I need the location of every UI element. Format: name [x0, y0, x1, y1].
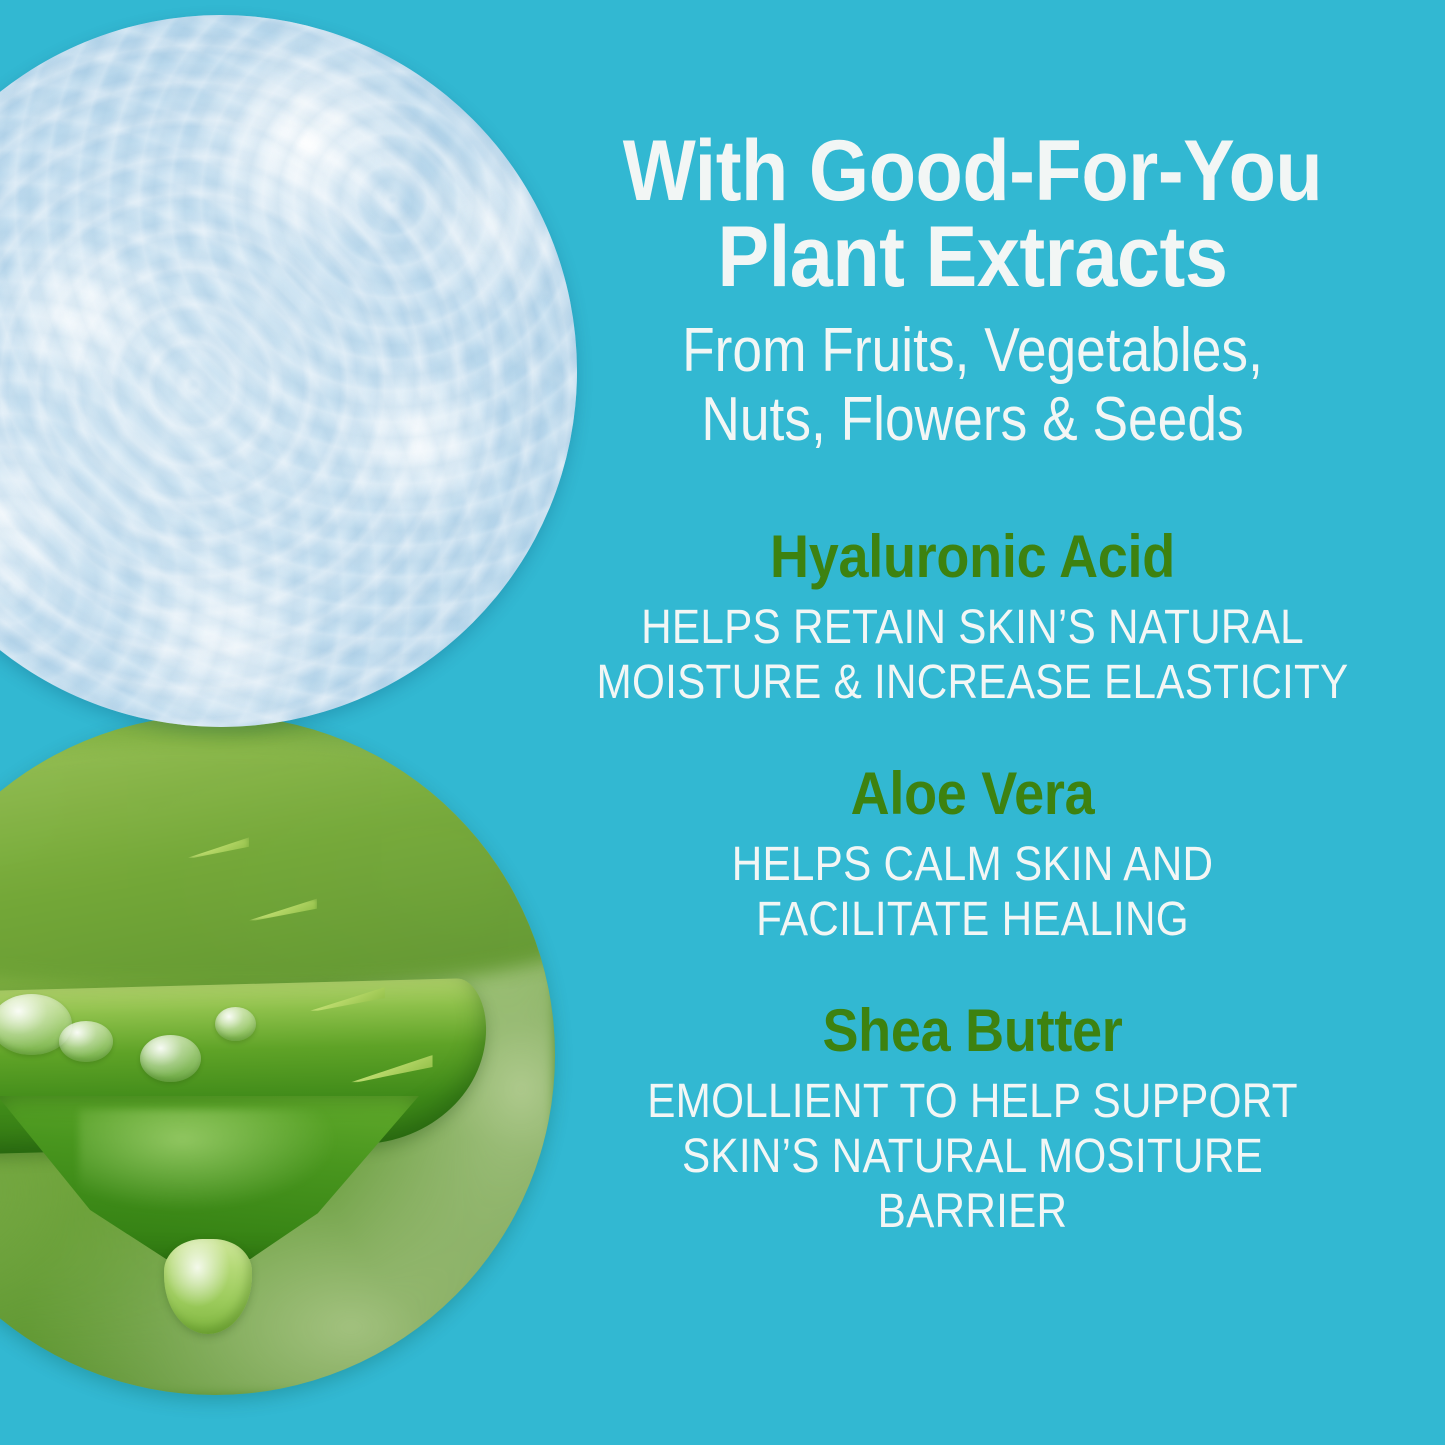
aloe-vera-photo — [0, 715, 555, 1395]
ingredient-description-line: HELPS CALM SKIN AND — [596, 837, 1348, 892]
water-caustic-highlights — [0, 15, 577, 727]
ingredient-description-line: EMOLLIENT TO HELP SUPPORT — [596, 1074, 1348, 1129]
ingredient-description: HELPS RETAIN SKIN’S NATURAL MOISTURE & I… — [596, 600, 1348, 710]
subheadline: From Fruits, Vegetables, Nuts, Flowers &… — [605, 316, 1340, 455]
water-ripple-photo — [0, 15, 577, 727]
ingredient-name: Hyaluronic Acid — [588, 525, 1358, 590]
ingredient-hyaluronic-acid: Hyaluronic Acid HELPS RETAIN SKIN’S NATU… — [545, 525, 1400, 710]
water-bead — [215, 1007, 256, 1041]
ingredient-name: Shea Butter — [588, 999, 1358, 1064]
ingredient-description-line: FACILITATE HEALING — [596, 892, 1348, 947]
ingredient-description: HELPS CALM SKIN AND FACILITATE HEALING — [596, 837, 1348, 947]
aloe-leaf-background — [0, 742, 555, 987]
subheadline-line-1: From Fruits, Vegetables, — [605, 316, 1340, 385]
water-bead — [140, 1035, 201, 1083]
subheadline-line-2: Nuts, Flowers & Seeds — [605, 385, 1340, 454]
headline: With Good-For-You Plant Extracts — [588, 0, 1358, 300]
ingredient-description-line: MOISTURE & INCREASE ELASTICITY — [596, 655, 1348, 710]
ingredient-description: EMOLLIENT TO HELP SUPPORT SKIN’S NATURAL… — [596, 1074, 1348, 1240]
headline-line-2: Plant Extracts — [588, 214, 1358, 300]
copy-column: With Good-For-You Plant Extracts From Fr… — [545, 0, 1400, 1445]
headline-line-1: With Good-For-You — [588, 128, 1358, 214]
ingredient-description-line: HELPS RETAIN SKIN’S NATURAL — [596, 600, 1348, 655]
product-benefits-infographic: With Good-For-You Plant Extracts From Fr… — [0, 0, 1445, 1445]
ingredient-shea-butter: Shea Butter EMOLLIENT TO HELP SUPPORT SK… — [545, 999, 1400, 1239]
ingredient-description-line: SKIN’S NATURAL MOSITURE BARRIER — [596, 1129, 1348, 1239]
water-bead — [59, 1021, 113, 1062]
aloe-gel-highlight — [79, 1109, 337, 1211]
ingredient-name: Aloe Vera — [588, 762, 1358, 827]
ingredient-aloe-vera: Aloe Vera HELPS CALM SKIN AND FACILITATE… — [545, 762, 1400, 947]
